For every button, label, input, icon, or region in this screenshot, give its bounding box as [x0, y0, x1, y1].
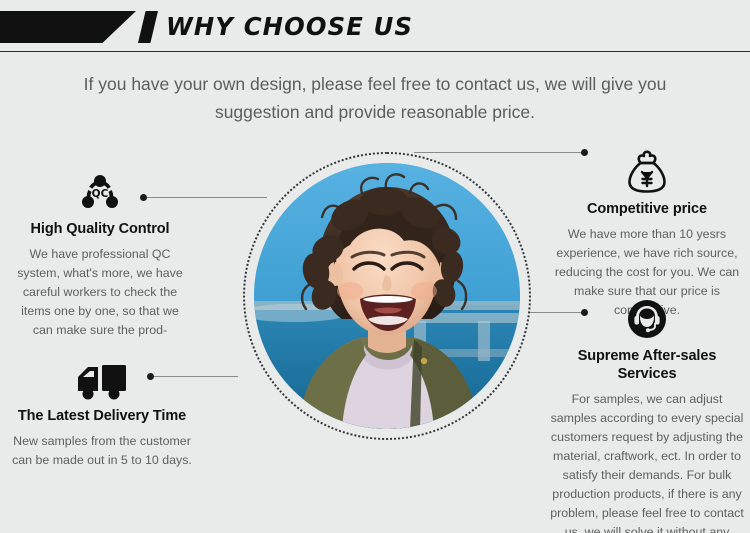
svg-text:QC: QC [92, 188, 109, 200]
qc-icon: QC [10, 168, 190, 214]
money-bag-icon [552, 148, 742, 194]
page-header: WHY CHOOSE US [0, 0, 750, 52]
feature-high-quality-control: QC High Quality Control We have professi… [10, 168, 190, 340]
header-divider [0, 51, 750, 52]
feature-supreme-after-sales-services: Supreme After-sales Services For samples… [548, 295, 746, 533]
why-choose-us-page: WHY CHOOSE US If you have your own desig… [0, 0, 750, 533]
feature-body: We have professional QC system, what's m… [10, 245, 190, 340]
feature-latest-delivery-time: The Latest Delivery Time New samples fro… [12, 355, 192, 470]
feature-title: Competitive price [552, 200, 742, 218]
headset-support-icon [548, 295, 746, 341]
feature-title: Supreme After-sales Services [548, 347, 746, 383]
feature-title: The Latest Delivery Time [12, 407, 192, 425]
page-title: WHY CHOOSE US [166, 12, 413, 42]
header-accent-bar [0, 11, 136, 43]
feature-body: New samples from the customer can be mad… [12, 432, 192, 470]
page-subtitle: If you have your own design, please feel… [75, 70, 675, 126]
child-portrait-illustration [254, 163, 520, 429]
hero-photo [254, 163, 520, 429]
feature-title: High Quality Control [10, 220, 190, 238]
delivery-truck-icon [12, 355, 192, 401]
feature-body: For samples, we can adjust samples accor… [548, 390, 746, 533]
header-slash-icon [138, 11, 158, 43]
